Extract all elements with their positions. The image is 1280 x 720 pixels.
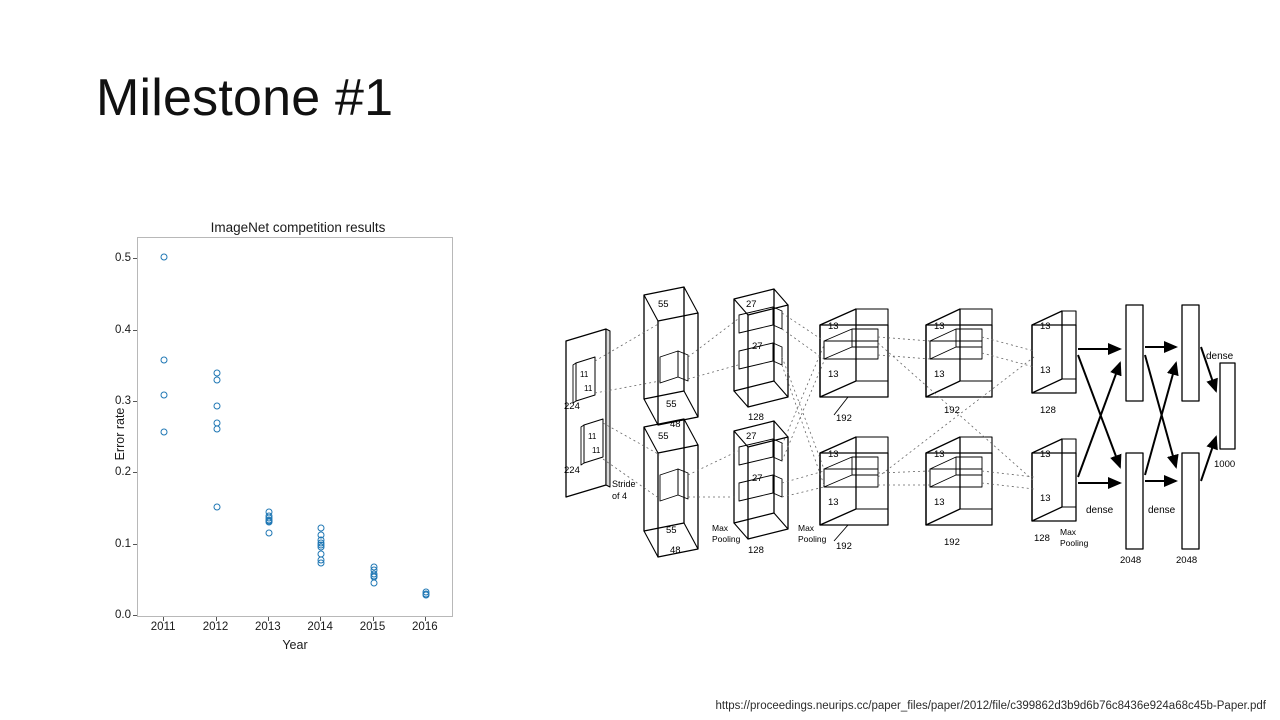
- page-title: Milestone #1: [96, 70, 393, 127]
- chart-y-tick-mark: [133, 330, 137, 331]
- chart-x-axis-label: Year: [137, 638, 453, 652]
- chart-y-tick-label: 0.0: [97, 609, 131, 621]
- diagram-label-kernel-a: 11: [580, 370, 589, 379]
- chart-y-tick-mark: [133, 401, 137, 402]
- chart-y-tick-mark: [133, 615, 137, 616]
- diagram-label-kernel-b: 11: [584, 384, 593, 393]
- chart-x-tick-mark: [268, 617, 269, 621]
- chart-plot-area: [137, 237, 453, 617]
- diagram-label-conv1-top-w: 55: [658, 299, 669, 310]
- chart-data-point: [161, 428, 168, 435]
- diagram-label-maxpool1-1: Max: [712, 523, 729, 533]
- diagram-label-maxpool2-1: Max: [798, 523, 815, 533]
- diagram-label-fc1: 2048: [1120, 555, 1141, 566]
- chart-data-point: [213, 369, 220, 376]
- chart-data-point: [318, 560, 325, 567]
- diagram-label-dense-1: dense: [1086, 505, 1114, 516]
- diagram-label-conv2-top-h: 27: [752, 341, 763, 352]
- chart-y-tick-mark: [133, 472, 137, 473]
- diagram-label-conv4-bot-depth: 192: [944, 537, 960, 548]
- diagram-label-conv4-top-h: 13: [934, 369, 945, 380]
- chart-x-tick-mark: [425, 617, 426, 621]
- alexnet-architecture-diagram: 224 224 11 11 11 11 Stride of 4 55 55 48…: [548, 285, 1258, 570]
- diagram-label-maxpool1-2: Pooling: [712, 534, 741, 544]
- chart-y-tick-label: 0.1: [97, 538, 131, 550]
- diagram-label-stride-1: Stride: [612, 479, 636, 489]
- diagram-label-input-height: 224: [564, 465, 580, 476]
- diagram-label-conv3-bot-w: 13: [828, 449, 839, 460]
- diagram-label-conv2-bot-h: 27: [752, 473, 763, 484]
- chart-data-point: [318, 543, 325, 550]
- diagram-label-conv3-bot-depth: 192: [836, 541, 852, 552]
- chart-x-tick-label: 2013: [238, 621, 298, 633]
- source-url-text: https://proceedings.neurips.cc/paper_fil…: [0, 700, 1266, 712]
- chart-data-point: [370, 580, 377, 587]
- diagram-label-dense-3: dense: [1206, 351, 1234, 362]
- diagram-label-conv2-bot-w: 27: [746, 431, 757, 442]
- diagram-label-conv5-bot-depth: 128: [1034, 533, 1050, 544]
- diagram-label-conv2-bot-depth: 128: [748, 545, 764, 556]
- chart-x-tick-label: 2014: [290, 621, 350, 633]
- chart-data-point: [161, 391, 168, 398]
- diagram-label-maxpool3-1: Max: [1060, 527, 1077, 537]
- chart-y-tick-label: 0.3: [97, 395, 131, 407]
- diagram-label-fc2: 2048: [1176, 555, 1197, 566]
- diagram-label-conv3-top-w: 13: [828, 321, 839, 332]
- alexnet-svg: 224 224 11 11 11 11 Stride of 4 55 55 48…: [548, 285, 1258, 570]
- diagram-label-conv1-bot-h: 55: [666, 525, 677, 536]
- chart-data-point: [161, 356, 168, 363]
- chart-y-tick-label: 0.4: [97, 324, 131, 336]
- diagram-label-conv5-bot-h: 13: [1040, 493, 1051, 504]
- diagram-label-conv2-top-w: 27: [746, 299, 757, 310]
- chart-x-tick-mark: [163, 617, 164, 621]
- chart-y-tick-label: 0.2: [97, 466, 131, 478]
- diagram-label-conv4-bot-w: 13: [934, 449, 945, 460]
- chart-data-point: [213, 426, 220, 433]
- diagram-label-conv1-top-depth: 48: [670, 419, 681, 430]
- diagram-label-conv5-top-depth: 128: [1040, 405, 1056, 416]
- chart-x-tick-label: 2015: [343, 621, 403, 633]
- chart-data-point: [161, 253, 168, 260]
- diagram-label-conv5-bot-w: 13: [1040, 449, 1051, 460]
- chart-data-point: [265, 530, 272, 537]
- chart-y-tick-label: 0.5: [97, 252, 131, 264]
- diagram-label-conv1-top-h: 55: [666, 399, 677, 410]
- diagram-label-conv2-top-depth: 128: [748, 412, 764, 423]
- chart-data-point: [265, 518, 272, 525]
- diagram-label-kernel-d: 11: [592, 446, 601, 455]
- chart-data-point: [213, 503, 220, 510]
- diagram-label-conv4-top-depth: 192: [944, 405, 960, 416]
- chart-x-tick-label: 2011: [133, 621, 193, 633]
- diagram-label-input-width: 224: [564, 401, 580, 412]
- diagram-label-conv3-bot-h: 13: [828, 497, 839, 508]
- chart-data-point: [318, 524, 325, 531]
- chart-data-point: [422, 592, 429, 599]
- diagram-label-conv5-top-w: 13: [1040, 321, 1051, 332]
- chart-x-tick-mark: [373, 617, 374, 621]
- imagenet-scatter-chart: ImageNet competition results Error rate …: [96, 215, 476, 655]
- diagram-label-kernel-c: 11: [588, 432, 597, 441]
- diagram-label-maxpool2-2: Pooling: [798, 534, 827, 544]
- chart-data-point: [213, 376, 220, 383]
- diagram-label-maxpool3-2: Pooling: [1060, 538, 1089, 548]
- chart-y-tick-mark: [133, 544, 137, 545]
- chart-x-tick-mark: [320, 617, 321, 621]
- chart-title: ImageNet competition results: [138, 220, 458, 235]
- chart-x-tick-mark: [216, 617, 217, 621]
- diagram-label-conv4-top-w: 13: [934, 321, 945, 332]
- diagram-label-conv3-top-h: 13: [828, 369, 839, 380]
- diagram-label-conv1-bot-w: 55: [658, 431, 669, 442]
- diagram-label-conv3-top-depth: 192: [836, 413, 852, 424]
- diagram-label-output: 1000: [1214, 459, 1235, 470]
- chart-x-tick-label: 2012: [186, 621, 246, 633]
- chart-y-tick-mark: [133, 258, 137, 259]
- diagram-label-dense-2: dense: [1148, 505, 1176, 516]
- chart-data-point: [213, 402, 220, 409]
- diagram-label-conv5-top-h: 13: [1040, 365, 1051, 376]
- diagram-label-conv1-bot-depth: 48: [670, 545, 681, 556]
- diagram-label-stride-2: of 4: [612, 491, 627, 501]
- chart-x-tick-label: 2016: [395, 621, 455, 633]
- diagram-label-conv4-bot-h: 13: [934, 497, 945, 508]
